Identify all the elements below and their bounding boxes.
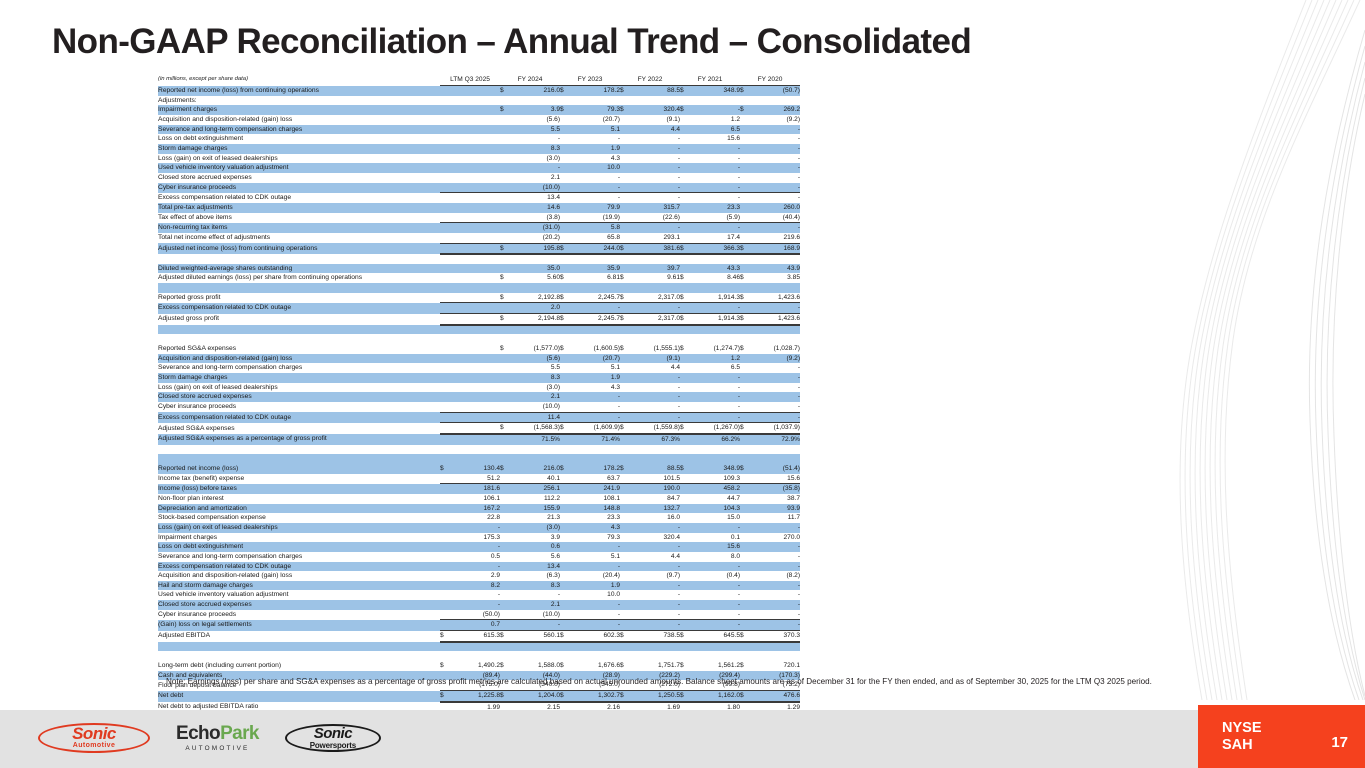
cell-value: 1,302.7: [572, 691, 620, 702]
cell-value: -: [692, 402, 740, 412]
cell-value: (1,028.7): [752, 344, 800, 354]
currency-symbol: [560, 154, 572, 164]
currency-symbol: [620, 144, 632, 154]
currency-symbol: $: [740, 105, 752, 115]
cell-value: 1,751.7: [632, 661, 680, 671]
cell-value: 2,317.0: [632, 293, 680, 303]
currency-symbol: [560, 183, 572, 193]
table-row: Closed store accrued expenses2.1----: [158, 392, 800, 402]
currency-symbol: [620, 134, 632, 144]
cell-value: (31.0): [512, 223, 560, 233]
currency-symbol: [500, 96, 512, 106]
cell-value: -: [692, 412, 740, 423]
cell-value: 43.9: [752, 264, 800, 274]
cell-value: 101.5: [632, 474, 680, 484]
footer-logo-group: Sonic Automotive EchoPark AUTOMOTIVE Son…: [38, 721, 381, 755]
currency-symbol: $: [620, 631, 632, 642]
cell-value: [452, 402, 500, 412]
exchange-label: NYSE: [1222, 720, 1262, 737]
currency-symbol: [440, 484, 452, 494]
page-number: 17: [1331, 734, 1348, 751]
cell-value: -: [572, 183, 620, 193]
cell-value: [452, 314, 500, 325]
row-label: [158, 651, 440, 661]
cell-value: 43.3: [692, 264, 740, 274]
currency-symbol: $: [680, 273, 692, 283]
cell-value: 9.61: [632, 273, 680, 283]
currency-symbol: [680, 513, 692, 523]
sonic-automotive-wordmark: Sonic: [72, 726, 116, 742]
currency-symbol: [560, 474, 572, 484]
table-row: Diluted weighted-average shares outstand…: [158, 264, 800, 274]
cell-value: -: [632, 402, 680, 412]
cell-value: [752, 445, 800, 455]
sonic-powersports-subtext: Powersports: [310, 741, 356, 750]
currency-symbol: [620, 96, 632, 106]
currency-symbol: $: [560, 423, 572, 434]
currency-symbol: [680, 542, 692, 552]
cell-value: (5.9): [692, 213, 740, 223]
cell-value: 5.1: [572, 125, 620, 135]
currency-symbol: [620, 115, 632, 125]
row-label: Non-recurring tax items: [158, 223, 440, 233]
currency-symbol: $: [560, 691, 572, 702]
table-row: [158, 283, 800, 293]
cell-value: [512, 96, 560, 106]
currency-symbol: [440, 314, 452, 325]
currency-symbol: [560, 610, 572, 620]
currency-symbol: [440, 264, 452, 274]
currency-symbol: [440, 363, 452, 373]
cell-value: 0.1: [692, 533, 740, 543]
table-row: Adjusted net income (loss) from continui…: [158, 243, 800, 254]
cell-value: (20.7): [572, 115, 620, 125]
table-row: Net debt$1,225.8$1,204.0$1,302.7$1,250.5…: [158, 691, 800, 702]
cell-value: 11.4: [512, 412, 560, 423]
currency-symbol: $: [560, 464, 572, 474]
table-row: Cyber insurance proceeds(10.0)----: [158, 402, 800, 412]
cell-value: [452, 412, 500, 423]
cell-value: (9.2): [752, 354, 800, 364]
currency-symbol: [440, 571, 452, 581]
cell-value: [452, 423, 500, 434]
table-row: [158, 334, 800, 344]
currency-symbol: [680, 173, 692, 183]
currency-symbol: [560, 562, 572, 572]
cell-value: 1.9: [572, 373, 620, 383]
column-header-fy-2023: FY 2023: [560, 74, 620, 86]
row-label: Income tax (benefit) expense: [158, 474, 440, 484]
cell-value: -: [752, 163, 800, 173]
currency-symbol: $: [440, 464, 452, 474]
currency-symbol: [560, 193, 572, 203]
echopark-wordmark: EchoPark: [176, 724, 259, 744]
cell-value: 4.4: [632, 363, 680, 373]
cell-value: (51.4): [752, 464, 800, 474]
cell-value: 40.1: [512, 474, 560, 484]
currency-symbol: [620, 620, 632, 631]
currency-symbol: [500, 504, 512, 514]
currency-symbol: [620, 454, 632, 464]
cell-value: 71.4%: [572, 434, 620, 445]
currency-symbol: [440, 163, 452, 173]
table-row: Non-recurring tax items(31.0)5.8---: [158, 223, 800, 233]
table-row: [158, 651, 800, 661]
cell-value: 260.0: [752, 203, 800, 213]
currency-symbol: $: [620, 293, 632, 303]
currency-symbol: [620, 213, 632, 223]
cell-value: 181.6: [452, 484, 500, 494]
cell-value: -: [632, 542, 680, 552]
cell-value: -: [632, 600, 680, 610]
table-row: [158, 325, 800, 335]
cell-value: 615.3: [452, 631, 500, 642]
cell-value: [512, 642, 560, 652]
cell-value: -: [752, 154, 800, 164]
cell-value: [752, 96, 800, 106]
currency-symbol: [740, 392, 752, 402]
cell-value: 8.46: [692, 273, 740, 283]
table-row: Impairment charges175.33.979.3320.40.127…: [158, 533, 800, 543]
currency-symbol: [740, 523, 752, 533]
cell-value: 2.1: [512, 173, 560, 183]
currency-symbol: [500, 283, 512, 293]
cell-value: 602.3: [572, 631, 620, 642]
cell-value: (1,037.9): [752, 423, 800, 434]
currency-symbol: [620, 434, 632, 445]
cell-value: (1,555.1): [632, 344, 680, 354]
currency-symbol: $: [680, 86, 692, 96]
currency-symbol: [620, 474, 632, 484]
currency-symbol: [740, 445, 752, 455]
cell-value: [572, 642, 620, 652]
row-label: Closed store accrued expenses: [158, 392, 440, 402]
cell-value: -: [752, 383, 800, 393]
cell-value: (19.9): [572, 213, 620, 223]
cell-value: (20.7): [572, 354, 620, 364]
currency-symbol: [740, 513, 752, 523]
cell-value: (1,559.8): [632, 423, 680, 434]
currency-symbol: $: [560, 631, 572, 642]
cell-value: 8.3: [512, 144, 560, 154]
currency-symbol: $: [740, 661, 752, 671]
currency-symbol: [740, 173, 752, 183]
table-row: Adjustments:: [158, 96, 800, 106]
cell-value: -: [632, 173, 680, 183]
currency-symbol: [740, 651, 752, 661]
currency-symbol: [620, 523, 632, 533]
cell-value: -: [572, 610, 620, 620]
currency-symbol: [440, 642, 452, 652]
currency-symbol: [680, 552, 692, 562]
cell-value: -: [692, 154, 740, 164]
cell-value: -: [752, 392, 800, 402]
cell-value: 13.4: [512, 193, 560, 203]
column-header-fy-2024: FY 2024: [500, 74, 560, 86]
currency-symbol: $: [620, 314, 632, 325]
row-label: Excess compensation related to CDK outag…: [158, 303, 440, 314]
currency-symbol: [560, 303, 572, 314]
cell-value: 168.9: [752, 243, 800, 254]
currency-symbol: [680, 115, 692, 125]
cell-value: -: [572, 402, 620, 412]
currency-symbol: [440, 383, 452, 393]
cell-value: -: [572, 412, 620, 423]
currency-symbol: [560, 533, 572, 543]
currency-symbol: [740, 233, 752, 243]
currency-symbol: [440, 223, 452, 233]
table-header: (in millions, except per share data) LTM…: [158, 74, 800, 86]
currency-symbol: [740, 96, 752, 106]
cell-value: -: [752, 223, 800, 233]
cell-value: -: [692, 392, 740, 402]
row-label: Adjusted SG&A expenses: [158, 423, 440, 434]
cell-value: [452, 383, 500, 393]
cell-value: -: [752, 542, 800, 552]
cell-value: -: [632, 581, 680, 591]
currency-symbol: [620, 610, 632, 620]
currency-symbol: [680, 454, 692, 464]
cell-value: 71.5%: [512, 434, 560, 445]
currency-symbol: $: [620, 105, 632, 115]
currency-symbol: [620, 513, 632, 523]
cell-value: 16.0: [632, 513, 680, 523]
currency-symbol: [440, 193, 452, 203]
cell-value: [572, 283, 620, 293]
cell-value: -: [512, 134, 560, 144]
currency-symbol: $: [680, 691, 692, 702]
currency-symbol: [680, 651, 692, 661]
currency-symbol: [440, 213, 452, 223]
currency-symbol: $: [620, 344, 632, 354]
cell-value: -: [632, 154, 680, 164]
currency-symbol: [560, 571, 572, 581]
currency-symbol: [560, 144, 572, 154]
currency-symbol: $: [620, 243, 632, 254]
table-row: Non-floor plan interest106.1112.2108.184…: [158, 494, 800, 504]
cell-value: [452, 264, 500, 274]
table-row: Acquisition and disposition-related (gai…: [158, 571, 800, 581]
row-label: Depreciation and amortization: [158, 504, 440, 514]
cell-value: 1,423.6: [752, 293, 800, 303]
cell-value: 1.9: [572, 581, 620, 591]
cell-value: [452, 243, 500, 254]
cell-value: 738.5: [632, 631, 680, 642]
currency-symbol: [620, 571, 632, 581]
cell-value: -: [692, 163, 740, 173]
currency-symbol: $: [680, 243, 692, 254]
cell-value: 1.9: [572, 144, 620, 154]
row-label: Stock-based compensation expense: [158, 513, 440, 523]
currency-symbol: [740, 213, 752, 223]
currency-symbol: $: [740, 273, 752, 283]
currency-symbol: [680, 642, 692, 652]
table-row: Adjusted gross profit$2,194.8$2,245.7$2,…: [158, 314, 800, 325]
currency-symbol: [740, 163, 752, 173]
row-label: Storm damage charges: [158, 373, 440, 383]
non-gaap-reconciliation-table: (in millions, except per share data) LTM…: [158, 74, 800, 722]
cell-value: (5.6): [512, 115, 560, 125]
cell-value: (22.6): [632, 213, 680, 223]
currency-symbol: [740, 373, 752, 383]
currency-symbol: [740, 383, 752, 393]
cell-value: -: [632, 144, 680, 154]
currency-symbol: [500, 154, 512, 164]
cell-value: -: [512, 163, 560, 173]
cell-value: 2.1: [512, 392, 560, 402]
currency-symbol: [680, 571, 692, 581]
cell-value: [512, 454, 560, 464]
currency-symbol: [740, 325, 752, 335]
currency-symbol: [740, 610, 752, 620]
currency-symbol: [680, 484, 692, 494]
cell-value: 108.1: [572, 494, 620, 504]
currency-symbol: [560, 354, 572, 364]
table-row: [158, 254, 800, 264]
cell-value: -: [752, 373, 800, 383]
table-row: Income (loss) before taxes181.6256.1241.…: [158, 484, 800, 494]
row-label: Loss (gain) on exit of leased dealership…: [158, 383, 440, 393]
cell-value: -: [632, 383, 680, 393]
currency-symbol: [620, 533, 632, 543]
currency-symbol: [560, 115, 572, 125]
currency-symbol: [620, 484, 632, 494]
currency-symbol: $: [560, 243, 572, 254]
table-row: [158, 642, 800, 652]
currency-symbol: [560, 412, 572, 423]
cell-value: 244.0: [572, 243, 620, 254]
cell-value: 65.8: [572, 233, 620, 243]
cell-value: 175.3: [452, 533, 500, 543]
cell-value: 4.4: [632, 552, 680, 562]
row-label: Hail and storm damage charges: [158, 581, 440, 591]
currency-symbol: [740, 412, 752, 423]
cell-value: 66.2%: [692, 434, 740, 445]
cell-value: -: [692, 223, 740, 233]
table-row: Long-term debt (including current portio…: [158, 661, 800, 671]
cell-value: [632, 254, 680, 264]
currency-symbol: [620, 504, 632, 514]
cell-value: -: [572, 134, 620, 144]
row-label: Tax effect of above items: [158, 213, 440, 223]
cell-value: 178.2: [572, 86, 620, 96]
cell-value: 190.0: [632, 484, 680, 494]
cell-value: [572, 651, 620, 661]
row-label: Excess compensation related to CDK outag…: [158, 193, 440, 203]
cell-value: [452, 233, 500, 243]
currency-symbol: [440, 105, 452, 115]
cell-value: 366.3: [692, 243, 740, 254]
cell-value: -: [692, 105, 740, 115]
cell-value: (1,267.0): [692, 423, 740, 434]
row-label: Loss (gain) on exit of leased dealership…: [158, 154, 440, 164]
table-row: Impairment charges$3.9$79.3$320.4$-$269.…: [158, 105, 800, 115]
currency-symbol: $: [500, 314, 512, 325]
cell-value: (10.0): [512, 402, 560, 412]
cell-value: [752, 454, 800, 464]
cell-value: [632, 96, 680, 106]
cell-value: 130.4: [452, 464, 500, 474]
cell-value: 1,225.8: [452, 691, 500, 702]
cell-value: -: [632, 392, 680, 402]
cell-value: 22.8: [452, 513, 500, 523]
currency-symbol: [440, 620, 452, 631]
currency-symbol: [560, 581, 572, 591]
row-label: Severance and long-term compensation cha…: [158, 125, 440, 135]
sonic-automotive-subtext: Automotive: [73, 742, 116, 750]
cell-value: 79.3: [572, 533, 620, 543]
currency-symbol: [740, 600, 752, 610]
currency-symbol: [680, 303, 692, 314]
currency-symbol: [680, 203, 692, 213]
currency-symbol: [680, 412, 692, 423]
currency-symbol: [560, 494, 572, 504]
cell-value: [452, 115, 500, 125]
table-row: Stock-based compensation expense22.821.3…: [158, 513, 800, 523]
currency-symbol: $: [740, 464, 752, 474]
currency-symbol: [560, 383, 572, 393]
currency-symbol: [680, 233, 692, 243]
cell-value: -: [692, 562, 740, 572]
cell-value: [692, 283, 740, 293]
table-row: Total pre-tax adjustments14.679.9315.723…: [158, 203, 800, 213]
cell-value: -: [692, 373, 740, 383]
currency-symbol: [500, 445, 512, 455]
sonic-powersports-wordmark: Sonic: [314, 727, 352, 741]
cell-value: 14.6: [512, 203, 560, 213]
currency-symbol: $: [680, 344, 692, 354]
table-row: Tax effect of above items(3.8)(19.9)(22.…: [158, 213, 800, 223]
cell-value: 269.2: [752, 105, 800, 115]
row-label: Total pre-tax adjustments: [158, 203, 440, 213]
row-label: [158, 642, 440, 652]
currency-symbol: [620, 562, 632, 572]
nyse-ticker-text: NYSE SAH: [1222, 720, 1262, 754]
cell-value: [452, 105, 500, 115]
currency-symbol: [440, 542, 452, 552]
currency-symbol: [500, 552, 512, 562]
cell-value: -: [752, 173, 800, 183]
cell-value: [452, 434, 500, 445]
currency-symbol: [620, 581, 632, 591]
cell-value: [572, 445, 620, 455]
cell-value: 10.0: [572, 590, 620, 600]
currency-symbol: $: [560, 273, 572, 283]
currency-symbol: $: [500, 344, 512, 354]
column-header-fy-2022: FY 2022: [620, 74, 680, 86]
currency-symbol: [440, 454, 452, 464]
table-row: Closed store accrued expenses2.1----: [158, 173, 800, 183]
sonic-automotive-logo: Sonic Automotive: [38, 721, 150, 755]
currency-symbol: [440, 513, 452, 523]
table-row: (Gain) loss on legal settlements0.7-----: [158, 620, 800, 631]
cell-value: 1,676.6: [572, 661, 620, 671]
echopark-automotive-logo: EchoPark AUTOMOTIVE: [176, 724, 259, 753]
cell-value: -: [752, 402, 800, 412]
cell-value: -: [572, 193, 620, 203]
currency-symbol: [680, 434, 692, 445]
units-note: (in millions, except per share data): [158, 74, 440, 86]
currency-symbol: [500, 600, 512, 610]
currency-symbol: [740, 334, 752, 344]
row-label: Adjusted EBITDA: [158, 631, 440, 642]
currency-symbol: [440, 325, 452, 335]
cell-value: 315.7: [632, 203, 680, 213]
cell-value: [452, 144, 500, 154]
currency-symbol: [440, 334, 452, 344]
currency-symbol: [680, 581, 692, 591]
cell-value: -: [752, 620, 800, 631]
